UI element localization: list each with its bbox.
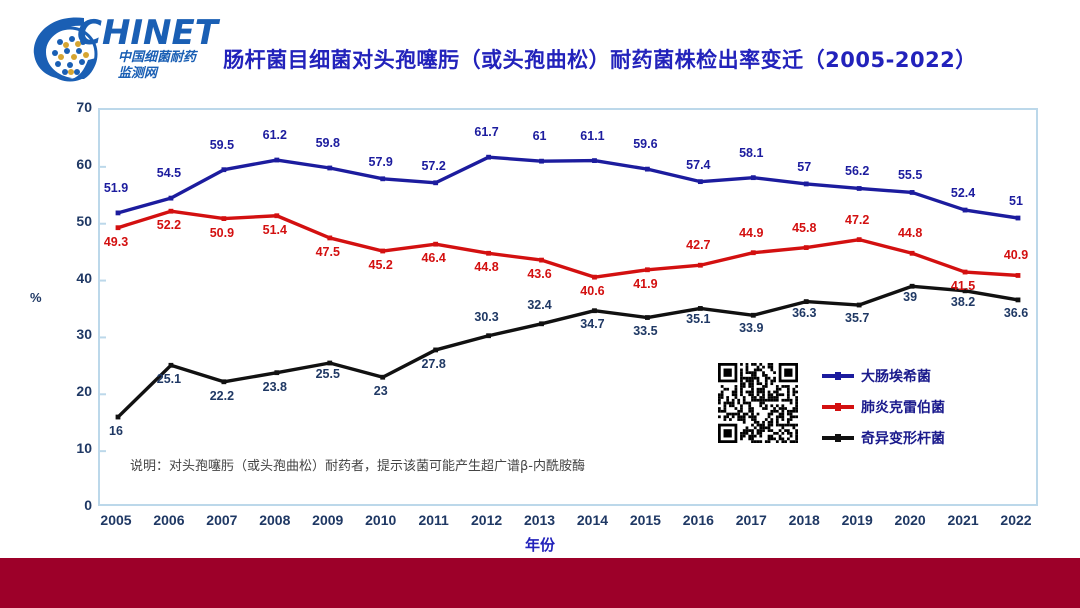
data-point-marker xyxy=(857,237,862,242)
x-axis-tick: 2006 xyxy=(153,512,184,528)
data-point-marker xyxy=(380,249,385,254)
data-point-marker xyxy=(169,196,174,201)
y-axis-label: % xyxy=(30,290,42,305)
data-point-marker xyxy=(433,242,438,247)
data-point-marker xyxy=(804,182,809,187)
data-point-marker xyxy=(645,267,650,272)
data-point-marker xyxy=(857,186,862,191)
series-line-0 xyxy=(118,157,1018,218)
data-point-marker xyxy=(116,415,121,420)
page-title: 肠杆菌目细菌对头孢噻肟（或头孢曲松）耐药菌株检出率变迁（2005-2022） xyxy=(185,44,1015,74)
x-axis-tick: 2014 xyxy=(577,512,608,528)
x-axis-tick: 2020 xyxy=(895,512,926,528)
data-point-marker xyxy=(116,211,121,216)
data-point-marker xyxy=(1016,216,1021,221)
data-point-marker xyxy=(327,166,332,171)
data-point-marker xyxy=(698,306,703,311)
x-axis-tick: 2015 xyxy=(630,512,661,528)
data-point-marker xyxy=(592,275,597,280)
data-point-marker xyxy=(910,251,915,256)
data-point-marker xyxy=(645,167,650,172)
data-point-marker xyxy=(327,236,332,241)
x-axis-tick: 2022 xyxy=(1000,512,1031,528)
data-point-marker xyxy=(539,258,544,263)
y-axis-tick: 0 xyxy=(36,497,92,513)
y-axis-tick: 50 xyxy=(36,213,92,229)
data-point-marker xyxy=(433,348,438,353)
data-point-marker xyxy=(751,250,756,255)
qr-code-svg xyxy=(718,363,798,443)
x-axis-tick: 2021 xyxy=(947,512,978,528)
data-point-marker xyxy=(221,379,226,384)
series-line-1 xyxy=(118,211,1018,277)
legend-item-0[interactable]: 大肠埃希菌 xyxy=(822,360,972,391)
data-point-marker xyxy=(539,321,544,326)
legend-label: 肺炎克雷伯菌 xyxy=(861,397,945,417)
data-point-marker xyxy=(592,158,597,163)
x-axis-tick: 2009 xyxy=(312,512,343,528)
x-axis-tick: 2019 xyxy=(842,512,873,528)
x-axis-tick: 2010 xyxy=(365,512,396,528)
logo-subtitle-line2: 监测网 xyxy=(118,65,159,81)
data-point-marker xyxy=(221,216,226,221)
data-point-marker xyxy=(592,308,597,313)
x-axis-tick: 2012 xyxy=(471,512,502,528)
data-point-marker xyxy=(169,363,174,368)
legend-label: 大肠埃希菌 xyxy=(861,366,931,386)
data-point-marker xyxy=(539,159,544,164)
x-axis-label: 年份 xyxy=(0,534,1080,555)
qr-code[interactable] xyxy=(718,363,798,443)
x-axis-tick: 2011 xyxy=(418,512,448,528)
x-axis-tick: 2013 xyxy=(524,512,555,528)
data-point-marker xyxy=(274,213,279,218)
x-axis-tick: 2018 xyxy=(789,512,820,528)
data-point-marker xyxy=(645,315,650,320)
legend-item-1[interactable]: 肺炎克雷伯菌 xyxy=(822,391,972,422)
legend-label: 奇异变形杆菌 xyxy=(861,428,945,448)
data-point-marker xyxy=(804,245,809,250)
y-axis-tick: 60 xyxy=(36,156,92,172)
data-point-marker xyxy=(169,209,174,214)
data-point-marker xyxy=(486,155,491,160)
data-point-marker xyxy=(327,361,332,366)
x-axis-tick: 2016 xyxy=(683,512,714,528)
data-point-marker xyxy=(116,225,121,230)
chart-legend: 大肠埃希菌肺炎克雷伯菌奇异变形杆菌 xyxy=(822,360,972,453)
data-point-marker xyxy=(274,370,279,375)
x-axis-tick: 2017 xyxy=(736,512,767,528)
y-axis-tick: 20 xyxy=(36,383,92,399)
x-axis-tick: 2007 xyxy=(206,512,237,528)
footer-bar xyxy=(0,558,1080,608)
data-point-marker xyxy=(1016,298,1021,303)
data-point-marker xyxy=(698,179,703,184)
data-point-marker xyxy=(486,333,491,338)
y-axis-tick: 70 xyxy=(36,99,92,115)
legend-swatch-icon xyxy=(822,405,854,409)
data-point-marker xyxy=(380,176,385,181)
data-point-marker xyxy=(698,263,703,268)
y-axis-ticks: 706050403020100 xyxy=(32,108,92,506)
data-point-marker xyxy=(486,251,491,256)
data-point-marker xyxy=(274,158,279,163)
data-point-marker xyxy=(380,375,385,380)
legend-item-2[interactable]: 奇异变形杆菌 xyxy=(822,422,972,453)
data-point-marker xyxy=(963,270,968,275)
data-point-marker xyxy=(963,288,968,293)
legend-swatch-icon xyxy=(822,374,854,378)
data-point-marker xyxy=(1016,273,1021,278)
x-axis-ticks: 2005200620072008200920102011201220132014… xyxy=(98,512,1038,534)
data-point-marker xyxy=(751,313,756,318)
data-point-marker xyxy=(857,303,862,308)
x-axis-tick: 2005 xyxy=(100,512,131,528)
data-point-marker xyxy=(751,175,756,180)
data-point-marker xyxy=(221,167,226,172)
data-point-marker xyxy=(433,180,438,185)
data-point-marker xyxy=(910,284,915,289)
chart-note: 说明：对头孢噻肟（或头孢曲松）耐药者，提示该菌可能产生超广谱β-内酰胺酶 xyxy=(130,455,585,474)
y-axis-tick: 30 xyxy=(36,326,92,342)
data-point-marker xyxy=(804,299,809,304)
legend-swatch-icon xyxy=(822,436,854,440)
data-point-marker xyxy=(910,190,915,195)
y-axis-tick: 40 xyxy=(36,270,92,286)
x-axis-tick: 2008 xyxy=(259,512,290,528)
y-axis-tick: 10 xyxy=(36,440,92,456)
data-point-marker xyxy=(963,208,968,213)
